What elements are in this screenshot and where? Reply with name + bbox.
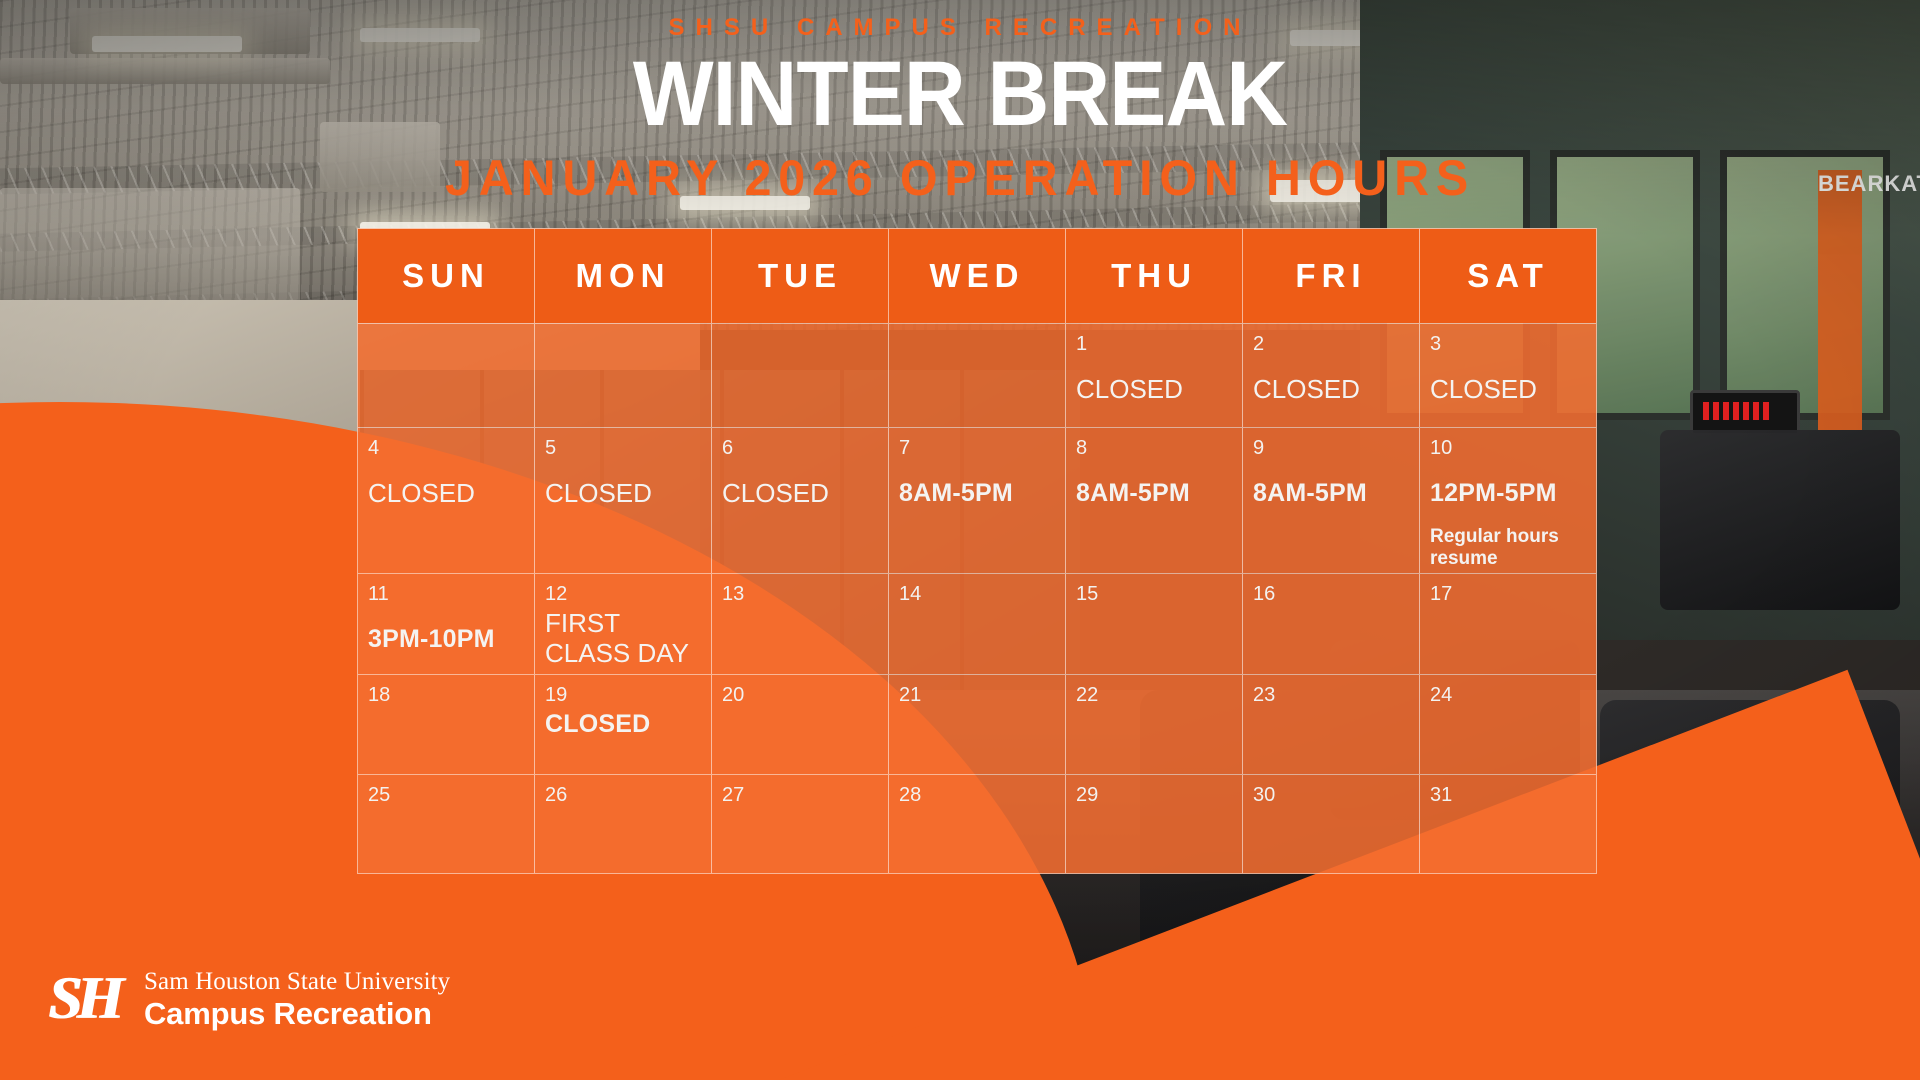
day-number: 20 [722, 683, 878, 707]
day-cell[interactable]: 9 8AM-5PM [1243, 428, 1420, 573]
day-cell[interactable]: 11 3PM-10PM [358, 574, 535, 674]
day-cell[interactable]: 5 CLOSED [535, 428, 712, 573]
weekday-header-thu: THU [1066, 229, 1243, 323]
day-number: 21 [899, 683, 1055, 707]
calendar-week-row: 1 CLOSED 2 CLOSED 3 CLOSED [358, 323, 1596, 427]
day-cell[interactable]: 13 [712, 574, 889, 674]
sh-monogram-icon: SH [48, 966, 126, 1034]
weekday-header-tue: TUE [712, 229, 889, 323]
day-number: 31 [1430, 783, 1586, 807]
day-cell[interactable]: 28 [889, 775, 1066, 873]
day-note: CLOSED [1253, 374, 1409, 404]
day-number: 17 [1430, 582, 1586, 606]
day-note: 12PM-5PM [1430, 478, 1586, 508]
day-number: 9 [1253, 436, 1409, 460]
weekday-header-fri: FRI [1243, 229, 1420, 323]
day-cell[interactable]: 21 [889, 675, 1066, 774]
day-cell[interactable]: 18 [358, 675, 535, 774]
day-number: 4 [368, 436, 524, 460]
day-cell[interactable] [712, 324, 889, 427]
day-cell[interactable] [535, 324, 712, 427]
day-cell[interactable]: 10 12PM-5PM Regular hours resume [1420, 428, 1596, 573]
day-cell[interactable]: 15 [1066, 574, 1243, 674]
day-number: 15 [1076, 582, 1232, 606]
day-note: CLOSED [722, 478, 878, 508]
day-cell[interactable]: 26 [535, 775, 712, 873]
day-cell[interactable] [889, 324, 1066, 427]
day-number: 27 [722, 783, 878, 807]
day-cell[interactable]: 12 FIRST CLASS DAY [535, 574, 712, 674]
day-number: 13 [722, 582, 878, 606]
day-cell[interactable]: 6 CLOSED [712, 428, 889, 573]
day-number: 25 [368, 783, 524, 807]
day-cell[interactable]: 30 [1243, 775, 1420, 873]
day-number: 28 [899, 783, 1055, 807]
day-number: 8 [1076, 436, 1232, 460]
day-cell[interactable]: 1 CLOSED [1066, 324, 1243, 427]
day-note: 8AM-5PM [1253, 478, 1409, 508]
logo-university-name: Sam Houston State University [144, 968, 450, 996]
day-cell[interactable]: 8 8AM-5PM [1066, 428, 1243, 573]
day-number: 19 [545, 683, 701, 707]
day-cell[interactable]: 22 [1066, 675, 1243, 774]
day-number: 11 [368, 582, 524, 606]
day-number: 24 [1430, 683, 1586, 707]
calendar-week-row: 11 3PM-10PM 12 FIRST CLASS DAY 13 14 15 … [358, 573, 1596, 674]
weekday-header-sat: SAT [1420, 229, 1596, 323]
day-number: 10 [1430, 436, 1586, 460]
day-cell[interactable]: 17 [1420, 574, 1596, 674]
day-note: CLOSED [368, 478, 524, 508]
day-cell[interactable]: 27 [712, 775, 889, 873]
operation-hours-calendar: SUN MON TUE WED THU FRI SAT [357, 228, 1597, 874]
page-subtitle: JANUARY 2026 OPERATION HOURS [29, 152, 1891, 204]
day-cell[interactable]: 23 [1243, 675, 1420, 774]
day-number: 7 [899, 436, 1055, 460]
day-subnote: Regular hours resume [1430, 526, 1586, 570]
day-number: 16 [1253, 582, 1409, 606]
day-cell[interactable]: 14 [889, 574, 1066, 674]
day-cell[interactable]: 7 8AM-5PM [889, 428, 1066, 573]
logo-department-name: Campus Recreation [144, 996, 450, 1032]
calendar-header-row: SUN MON TUE WED THU FRI SAT [358, 229, 1596, 323]
weekday-header-wed: WED [889, 229, 1066, 323]
day-note: CLOSED [1076, 374, 1232, 404]
day-number: 18 [368, 683, 524, 707]
day-cell[interactable]: 24 [1420, 675, 1596, 774]
day-number: 12 [545, 582, 701, 606]
day-number: 1 [1076, 332, 1232, 356]
day-cell[interactable]: 2 CLOSED [1243, 324, 1420, 427]
day-cell[interactable]: 25 [358, 775, 535, 873]
day-cell[interactable]: 31 [1420, 775, 1596, 873]
day-number: 30 [1253, 783, 1409, 807]
calendar-week-row: 25 26 27 28 29 30 [358, 774, 1596, 873]
weekday-header-mon: MON [535, 229, 712, 323]
day-cell[interactable]: 4 CLOSED [358, 428, 535, 573]
day-number: 26 [545, 783, 701, 807]
day-cell[interactable]: 20 [712, 675, 889, 774]
page-title: WINTER BREAK [67, 48, 1853, 140]
day-number: 29 [1076, 783, 1232, 807]
day-number: 5 [545, 436, 701, 460]
logo-wordmark: Sam Houston State University Campus Recr… [144, 968, 450, 1032]
day-note: CLOSED [1430, 374, 1586, 404]
day-cell[interactable]: 16 [1243, 574, 1420, 674]
day-note: CLOSED [545, 478, 701, 508]
calendar-week-row: 4 CLOSED 5 CLOSED 6 CLOSED 7 8AM-5PM 8 8… [358, 427, 1596, 573]
day-number: 6 [722, 436, 878, 460]
day-number: 2 [1253, 332, 1409, 356]
day-note: FIRST CLASS DAY [545, 608, 701, 668]
day-note: CLOSED [545, 709, 701, 739]
day-note: 3PM-10PM [368, 624, 524, 654]
day-number: 14 [899, 582, 1055, 606]
day-number: 3 [1430, 332, 1586, 356]
day-note: 8AM-5PM [1076, 478, 1232, 508]
day-number: 23 [1253, 683, 1409, 707]
day-note: 8AM-5PM [899, 478, 1055, 508]
day-cell[interactable]: 3 CLOSED [1420, 324, 1596, 427]
weekday-header-sun: SUN [358, 229, 535, 323]
day-number: 22 [1076, 683, 1232, 707]
day-cell[interactable] [358, 324, 535, 427]
poster: BEARKAT REC SHSU CAMPUS RECREATION WINTE… [0, 0, 1920, 1080]
day-cell[interactable]: 29 [1066, 775, 1243, 873]
kicker-text: SHSU CAMPUS RECREATION [0, 14, 1920, 42]
day-cell[interactable]: 19 CLOSED [535, 675, 712, 774]
shsu-campus-recreation-logo: SH Sam Houston State University Campus R… [48, 966, 450, 1034]
calendar-week-row: 18 19 CLOSED 20 21 22 23 [358, 674, 1596, 774]
